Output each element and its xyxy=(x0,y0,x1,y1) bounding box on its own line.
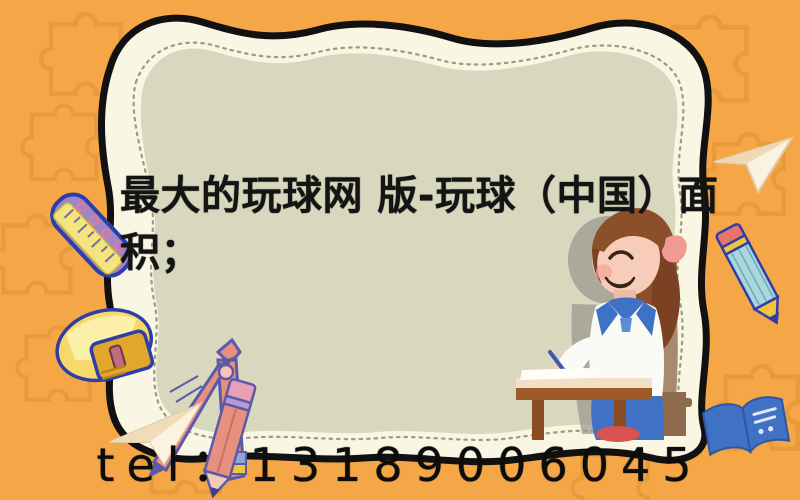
contact-phone: tel：13189006045 xyxy=(0,424,800,500)
banner-canvas: 最大的玩球网 版-玩球（中国）面积； tel：13189006045 xyxy=(0,0,800,500)
page-title: 最大的玩球网 版-玩球（中国）面积； xyxy=(120,168,740,282)
